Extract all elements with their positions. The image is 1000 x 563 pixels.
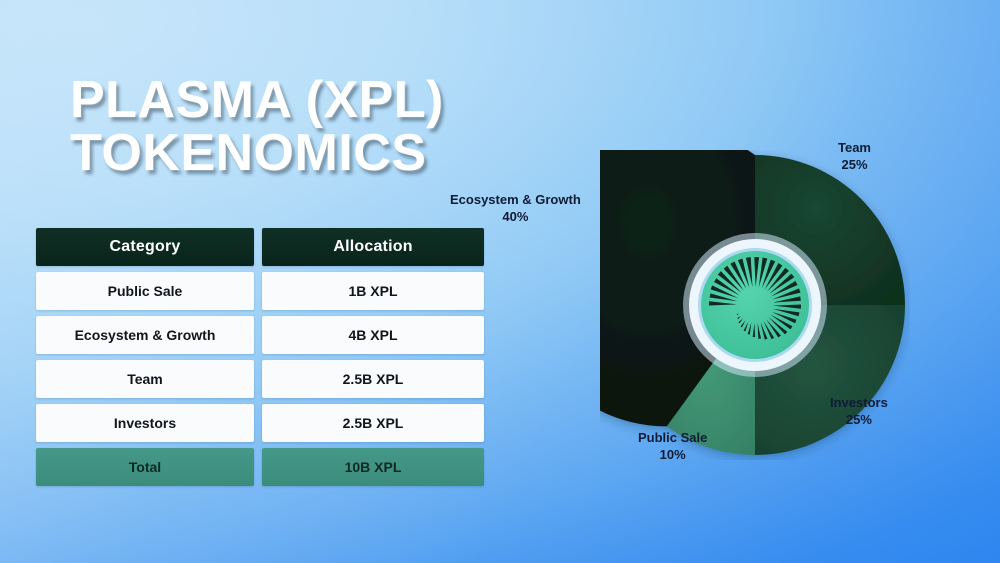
plasma-swirl-logo bbox=[683, 233, 827, 377]
slice-label-team-name: Team bbox=[838, 140, 871, 155]
slice-label-public-sale: Public Sale 10% bbox=[638, 430, 707, 464]
table-row: Ecosystem & Growth 4B XPL bbox=[36, 316, 484, 354]
infographic-canvas: PLASMA (XPL) TOKENOMICS Category Allocat… bbox=[0, 0, 1000, 563]
slice-label-investors: Investors 25% bbox=[830, 395, 888, 429]
cell-category: Public Sale bbox=[36, 272, 254, 310]
title-line-2: TOKENOMICS bbox=[70, 127, 444, 180]
table-header-row: Category Allocation bbox=[36, 228, 484, 266]
cell-category: Ecosystem & Growth bbox=[36, 316, 254, 354]
cell-category: Team bbox=[36, 360, 254, 398]
page-title: PLASMA (XPL) TOKENOMICS bbox=[70, 74, 444, 180]
allocation-table: Category Allocation Public Sale 1B XPL E… bbox=[36, 228, 484, 486]
cell-allocation: 4B XPL bbox=[262, 316, 484, 354]
table-row: Team 2.5B XPL bbox=[36, 360, 484, 398]
table-row: Investors 2.5B XPL bbox=[36, 404, 484, 442]
cell-allocation: 2.5B XPL bbox=[262, 404, 484, 442]
table-total-row: Total 10B XPL bbox=[36, 448, 484, 486]
slice-label-public-sale-pct: 10% bbox=[638, 447, 707, 464]
cell-total-allocation: 10B XPL bbox=[262, 448, 484, 486]
cell-total-label: Total bbox=[36, 448, 254, 486]
slice-label-ecosystem: Ecosystem & Growth 40% bbox=[450, 192, 581, 226]
title-line-1: PLASMA (XPL) bbox=[70, 74, 444, 127]
slice-label-investors-name: Investors bbox=[830, 395, 888, 410]
cell-allocation: 2.5B XPL bbox=[262, 360, 484, 398]
slice-label-ecosystem-pct: 40% bbox=[450, 209, 581, 226]
slice-label-public-sale-name: Public Sale bbox=[638, 430, 707, 445]
slice-label-team-pct: 25% bbox=[838, 157, 871, 174]
header-cell-category: Category bbox=[36, 228, 254, 266]
cell-category: Investors bbox=[36, 404, 254, 442]
slice-label-investors-pct: 25% bbox=[830, 412, 888, 429]
slice-label-team: Team 25% bbox=[838, 140, 871, 174]
cell-allocation: 1B XPL bbox=[262, 272, 484, 310]
header-cell-allocation: Allocation bbox=[262, 228, 484, 266]
slice-label-ecosystem-name: Ecosystem & Growth bbox=[450, 192, 581, 207]
tokenomics-donut-chart: Team 25% Investors 25% Public Sale 10% E… bbox=[560, 100, 990, 520]
table-row: Public Sale 1B XPL bbox=[36, 272, 484, 310]
